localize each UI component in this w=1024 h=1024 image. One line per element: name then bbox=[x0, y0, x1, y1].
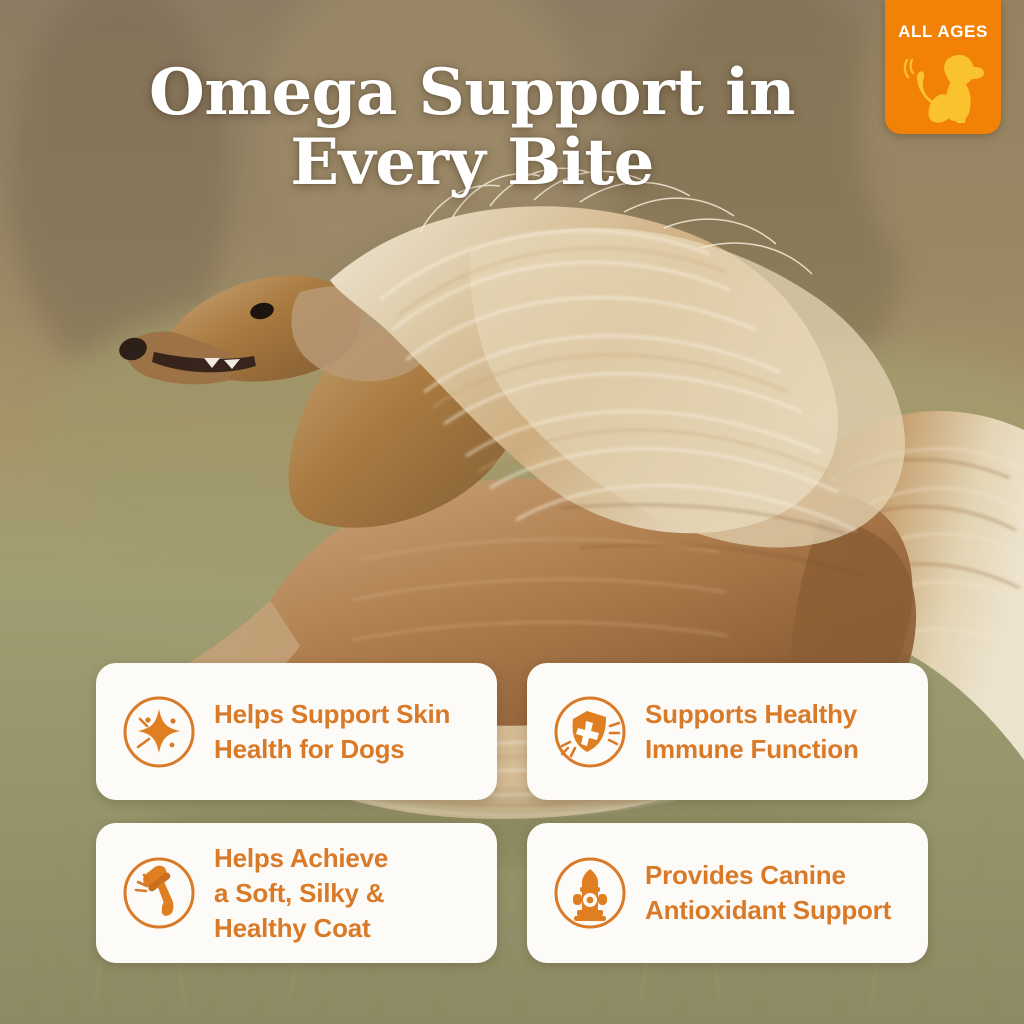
feature-card-grid: Helps Support Skin Health for Dogs bbox=[96, 663, 928, 963]
feature-line: Provides Canine bbox=[645, 858, 891, 893]
feature-card-text: Helps Support Skin Health for Dogs bbox=[214, 697, 450, 767]
feature-line: Supports Healthy bbox=[645, 697, 859, 732]
feature-card-antioxidant-support[interactable]: Provides Canine Antioxidant Support bbox=[527, 823, 928, 963]
fire-hydrant-icon bbox=[549, 852, 631, 934]
feature-card-text: Provides Canine Antioxidant Support bbox=[645, 858, 891, 928]
feature-line: a Soft, Silky & bbox=[214, 876, 388, 911]
title-line-2: Every Bite bbox=[40, 128, 904, 198]
badge-label: ALL AGES bbox=[898, 22, 988, 41]
feature-card-text: Helps Achieve a Soft, Silky & Healthy Co… bbox=[214, 841, 388, 946]
feature-line: Helps Support Skin bbox=[214, 697, 450, 732]
poster-canvas: Omega Support in Every Bite ALL AGES bbox=[0, 0, 1024, 1024]
feature-line: Healthy Coat bbox=[214, 911, 388, 946]
feature-card-immune-function[interactable]: Supports Healthy Immune Function bbox=[527, 663, 928, 800]
grooming-brush-icon bbox=[118, 852, 200, 934]
shield-plus-icon bbox=[549, 691, 631, 773]
page-title: Omega Support in Every Bite bbox=[0, 58, 1024, 198]
feature-line: Antioxidant Support bbox=[645, 893, 891, 928]
sparkle-star-icon bbox=[118, 691, 200, 773]
all-ages-badge: ALL AGES bbox=[885, 0, 1001, 134]
feature-line: Helps Achieve bbox=[214, 841, 388, 876]
title-line-1: Omega Support in bbox=[40, 58, 904, 128]
feature-line: Health for Dogs bbox=[214, 732, 450, 767]
sitting-dog-silhouette-icon bbox=[901, 47, 985, 125]
feature-card-skin-health[interactable]: Helps Support Skin Health for Dogs bbox=[96, 663, 497, 800]
feature-line: Immune Function bbox=[645, 732, 859, 767]
feature-card-silky-coat[interactable]: Helps Achieve a Soft, Silky & Healthy Co… bbox=[96, 823, 497, 963]
feature-card-text: Supports Healthy Immune Function bbox=[645, 697, 859, 767]
